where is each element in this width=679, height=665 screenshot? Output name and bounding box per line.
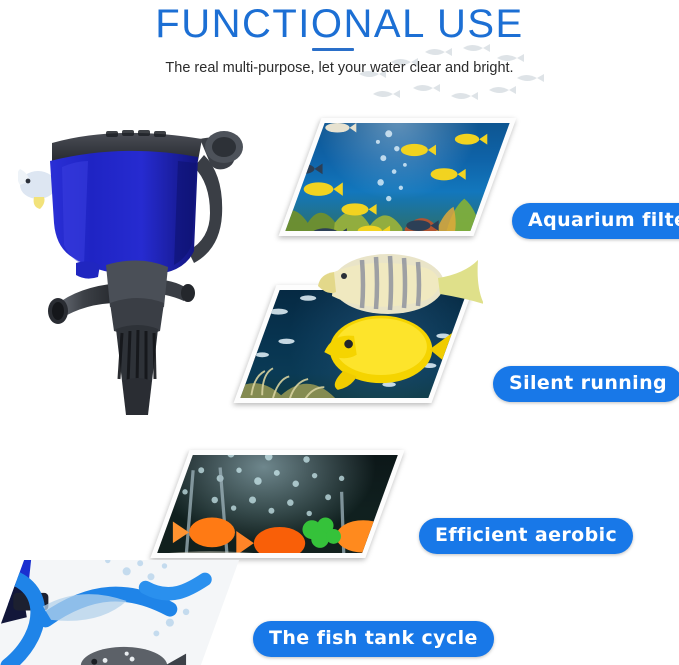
page-subtitle: The real multi-purpose, let your water c… [0,60,679,76]
feature-label-silent-running[interactable]: Silent running [493,366,679,402]
fish-school-decor [355,40,555,112]
feature-photo-fish-tank-cycle [0,560,239,665]
feature-label-aquarium-filter[interactable]: Aquarium filter [512,203,679,239]
title-divider [312,48,354,51]
feature-photo-aquarium-filter [279,118,517,236]
striped-fish-decor [318,244,483,354]
feature-label-fish-tank-cycle[interactable]: The fish tank cycle [253,621,494,657]
page-title: FUNCTIONAL USE [0,2,679,47]
product-image-pump [18,115,253,415]
feature-photo-efficient-aerobic [150,450,404,558]
feature-label-efficient-aerobic[interactable]: Efficient aerobic [419,518,633,554]
marketing-banner: FUNCTIONAL USE The real multi-purpose, l… [0,0,679,665]
